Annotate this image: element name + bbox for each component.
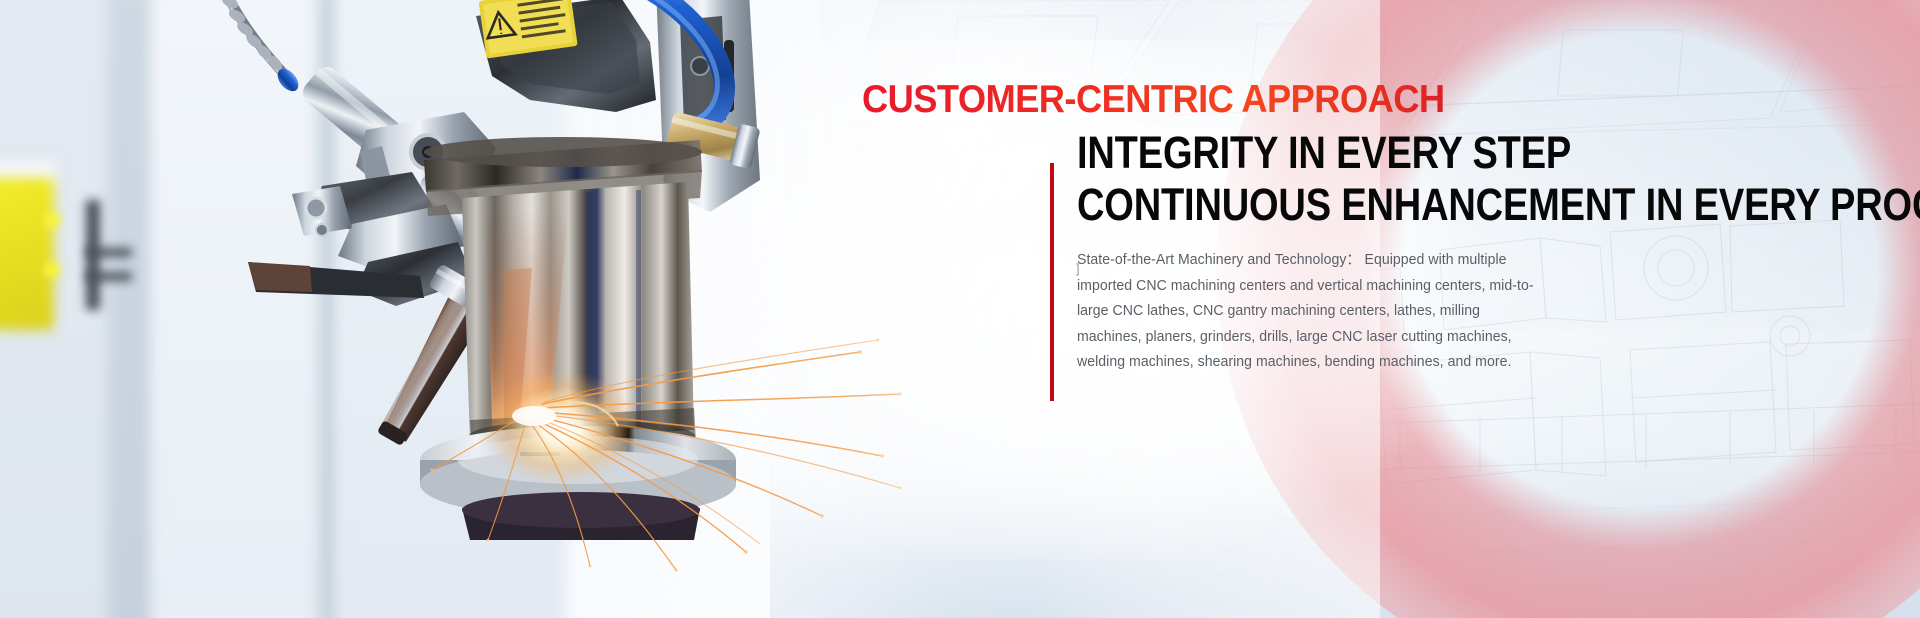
headline-line-1: INTEGRITY IN EVERY STEP	[1077, 128, 1787, 178]
hero-banner: CUSTOMER-CENTRIC APPROACH INTEGRITY IN E…	[0, 0, 1920, 618]
headline-line-2: CONTINUOUS ENHANCEMENT IN EVERY PROCESS	[1077, 180, 1787, 230]
yellow-warning-device	[0, 178, 54, 330]
hero-text-block: CUSTOMER-CENTRIC APPROACH INTEGRITY IN E…	[1050, 0, 1920, 618]
steel-cylinder-workpiece	[400, 120, 880, 540]
stray-glyph: ]	[1076, 264, 1080, 274]
weld-arc-flash	[486, 372, 636, 482]
yellow-indicator-1	[44, 212, 60, 228]
red-accent-line	[1050, 163, 1054, 401]
description-text: State-of-the-Art Machinery and Technolog…	[1077, 252, 1534, 370]
description-paragraph: ] State-of-the-Art Machinery and Technol…	[1077, 248, 1540, 376]
headline: INTEGRITY IN EVERY STEP CONTINUOUS ENHAN…	[1077, 128, 1917, 230]
eyebrow-heading: CUSTOMER-CENTRIC APPROACH	[862, 78, 1445, 122]
yellow-indicator-2	[44, 262, 60, 278]
